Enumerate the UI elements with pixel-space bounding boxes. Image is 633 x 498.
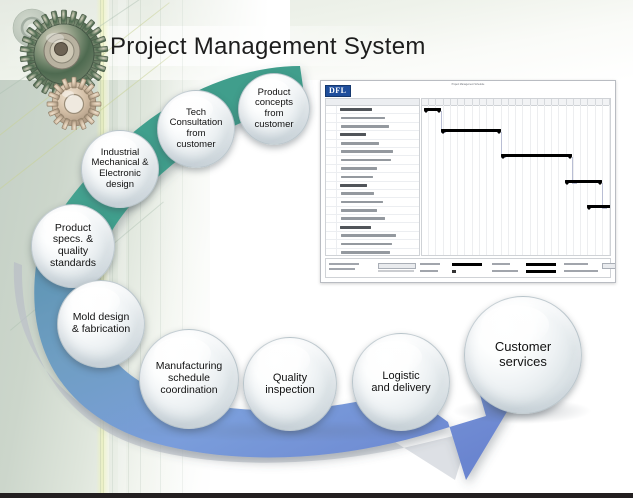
gantt-task-name [341,150,393,153]
process-node-label: Qualityinspection [260,372,320,397]
process-node-label: Manufacturingschedulecoordination [151,361,228,396]
gantt-task-name [341,117,385,120]
gantt-task-row[interactable] [326,173,419,181]
gantt-task-row[interactable] [326,131,419,139]
gantt-task-id [326,173,337,180]
gantt-task-name [340,226,371,229]
process-node-mold-design[interactable]: Mold design& fabrication [57,280,145,368]
gantt-task-row[interactable] [326,232,419,240]
gantt-task-id [326,215,337,222]
dfl-logo: DFL [325,85,351,97]
gantt-summary-bar[interactable] [501,154,572,157]
gantt-summary-bar[interactable] [565,180,603,183]
gantt-task-row[interactable] [326,249,419,256]
gantt-task-row[interactable] [326,223,419,231]
gantt-task-row[interactable] [326,198,419,206]
gantt-task-row[interactable] [326,156,419,164]
gantt-task-id [326,232,337,239]
gantt-task-row[interactable] [326,215,419,223]
gantt-task-name [341,142,379,145]
process-node-label: Productspecs. &qualitystandards [45,223,101,270]
process-node-product-concepts[interactable]: Productconceptsfromcustomer [238,73,310,145]
gantt-task-name [341,243,392,246]
gantt-task-name [341,251,390,254]
gantt-task-row[interactable] [326,182,419,190]
process-node-quality-inspection[interactable]: Qualityinspection [243,337,337,431]
gantt-task-id [326,198,337,205]
gantt-task-name [341,192,374,195]
gantt-task-id [326,123,337,130]
gantt-task-name [341,209,377,212]
gantt-task-name [340,108,372,111]
process-node-label: Customerservices [490,340,556,369]
slide-canvas: Project Management System [0,0,633,498]
page-title: Project Management System [110,33,426,61]
gantt-task-id [326,182,337,189]
gantt-task-name [341,176,373,179]
process-node-label: IndustrialMechanical &Electronicdesign [86,148,153,191]
gantt-task-list[interactable] [325,98,420,256]
gantt-task-row[interactable] [326,106,419,114]
gantt-window-title: Project Management Schedule [452,83,485,86]
gantt-task-row[interactable] [326,190,419,198]
gantt-timeline[interactable] [421,98,611,256]
gantt-task-row[interactable] [326,114,419,122]
gantt-summary-bar[interactable] [441,129,501,132]
process-node-label: Logisticand delivery [366,370,435,395]
gantt-task-id [326,114,337,121]
gantt-summary-bar[interactable] [610,228,611,231]
gantt-task-id [326,240,337,247]
process-node-label: Productconceptsfromcustomer [249,88,298,131]
gantt-task-row[interactable] [326,148,419,156]
gantt-task-row[interactable] [326,240,419,248]
gantt-task-id [326,190,337,197]
process-node-customer-services[interactable]: Customerservices [464,296,582,414]
gantt-task-name [341,234,396,237]
gantt-task-id [326,131,337,138]
gantt-body [325,98,611,256]
gantt-summary-bar[interactable] [424,108,441,111]
gantt-task-name [341,201,383,204]
gantt-task-row[interactable] [326,165,419,173]
process-node-manufacturing-schedule[interactable]: Manufacturingschedulecoordination [139,329,239,429]
gantt-task-id [326,223,337,230]
gantt-summary-bar[interactable] [587,205,611,208]
gantt-chart-screenshot[interactable]: Project Management Schedule DFL [320,80,616,283]
gantt-task-rows [326,106,419,256]
gantt-task-row[interactable] [326,207,419,215]
gantt-task-id [326,140,337,147]
gantt-task-id [326,165,337,172]
gantt-task-name [340,184,367,187]
gantt-task-list-header [326,99,419,106]
gantt-task-name [340,133,366,136]
process-node-logistic-delivery[interactable]: Logisticand delivery [352,333,450,431]
process-node-industrial-design[interactable]: IndustrialMechanical &Electronicdesign [81,130,159,208]
gantt-task-name [341,167,377,170]
process-node-label: Mold design& fabrication [67,312,135,336]
gantt-task-id [326,207,337,214]
gantt-task-id [326,148,337,155]
process-node-label: TechConsultationfromcustomer [165,108,228,151]
process-node-tech-consultation[interactable]: TechConsultationfromcustomer [157,90,235,168]
gantt-legend [325,258,611,278]
gantt-task-row[interactable] [326,140,419,148]
gantt-task-id [326,249,337,256]
gantt-task-name [341,159,391,162]
gantt-task-id [326,106,337,113]
process-node-product-specs[interactable]: Productspecs. &qualitystandards [31,204,115,288]
gantt-task-name [341,217,385,220]
gantt-task-id [326,156,337,163]
gantt-task-name [341,125,389,128]
gantt-task-row[interactable] [326,123,419,131]
